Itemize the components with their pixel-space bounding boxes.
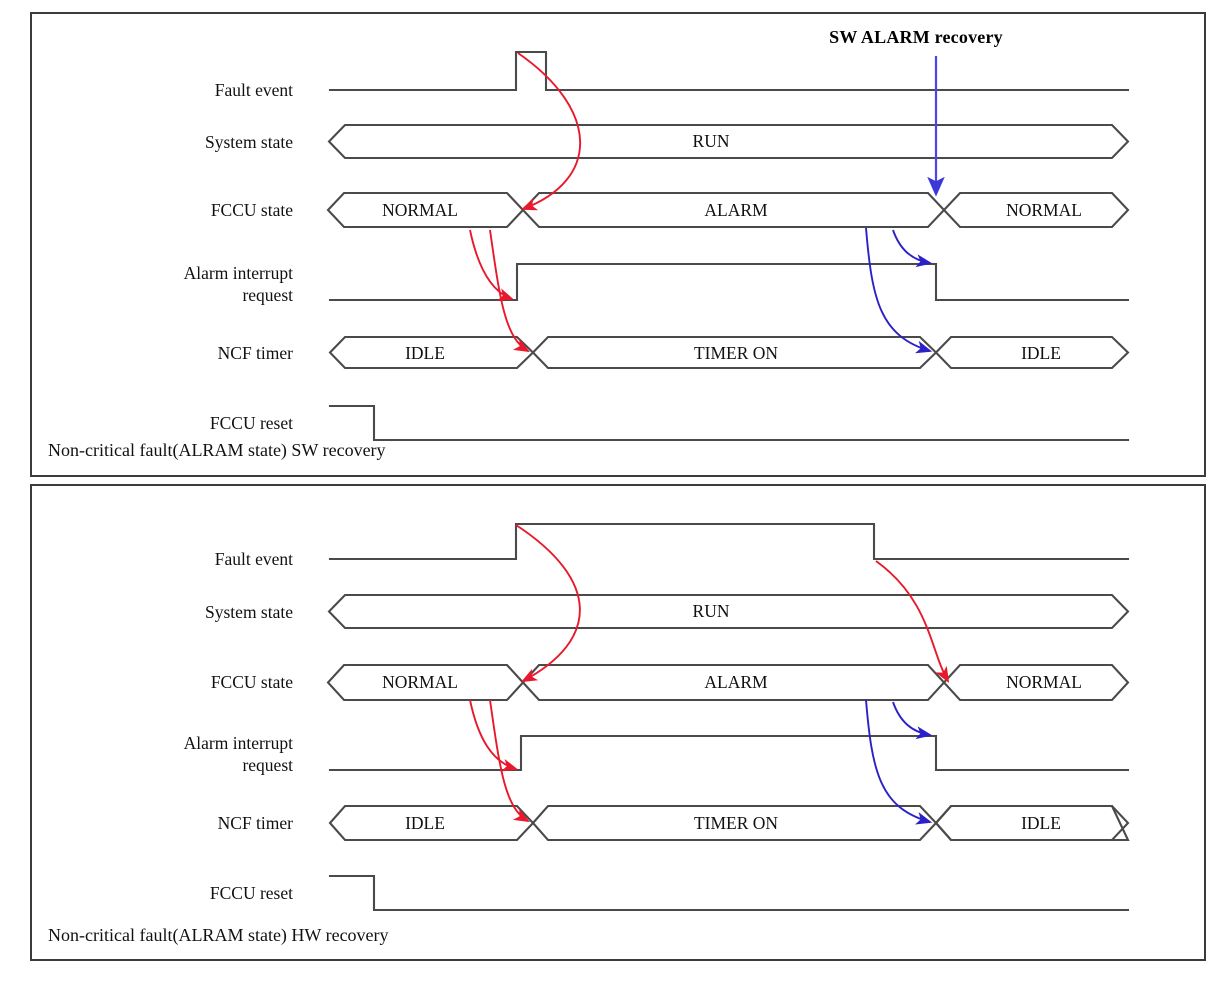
- signal-label-fccu-state-bottom: FCCU state: [103, 671, 293, 693]
- signal-label-alarm-interrupt-bottom: Alarm interrupt request: [103, 732, 293, 776]
- bus-segment-timer-on-top: TIMER ON: [646, 343, 826, 363]
- signal-label-ncf-timer-bottom: NCF timer: [103, 812, 293, 834]
- signal-label-alarm-interrupt-top: Alarm interrupt request: [103, 262, 293, 306]
- signal-label-fault-event-bottom: Fault event: [103, 548, 293, 570]
- bus-segment-idle-1-bottom: IDLE: [335, 813, 515, 833]
- panel-caption-top: Non-critical fault(ALRAM state) SW recov…: [48, 440, 386, 461]
- bus-segment-idle-2-bottom: IDLE: [951, 813, 1131, 833]
- signal-label-fccu-reset-bottom: FCCU reset: [103, 882, 293, 904]
- signal-label-system-state-bottom: System state: [103, 601, 293, 623]
- bus-segment-normal-1-top: NORMAL: [330, 200, 510, 220]
- bus-segment-run-bottom: RUN: [616, 601, 806, 621]
- bus-segment-alarm-top: ALARM: [646, 200, 826, 220]
- bus-segment-timer-on-bottom: TIMER ON: [646, 813, 826, 833]
- bus-segment-normal-1-bottom: NORMAL: [330, 672, 510, 692]
- panel-caption-bottom: Non-critical fault(ALRAM state) HW recov…: [48, 925, 389, 946]
- bus-segment-idle-1-top: IDLE: [335, 343, 515, 363]
- timing-diagram-figure: SW ALARM recovery Fault event System sta…: [0, 0, 1229, 988]
- signal-label-ncf-timer-top: NCF timer: [103, 342, 293, 364]
- bus-segment-idle-2-top: IDLE: [951, 343, 1131, 363]
- bus-segment-normal-2-bottom: NORMAL: [954, 672, 1134, 692]
- annotation-sw-alarm-recovery: SW ALARM recovery: [810, 27, 1022, 48]
- signal-label-system-state-top: System state: [103, 131, 293, 153]
- bus-segment-normal-2-top: NORMAL: [954, 200, 1134, 220]
- signal-label-fccu-state-top: FCCU state: [103, 199, 293, 221]
- bus-segment-run-top: RUN: [616, 131, 806, 151]
- signal-label-fccu-reset-top: FCCU reset: [103, 412, 293, 434]
- signal-label-fault-event-top: Fault event: [103, 79, 293, 101]
- bus-segment-alarm-bottom: ALARM: [646, 672, 826, 692]
